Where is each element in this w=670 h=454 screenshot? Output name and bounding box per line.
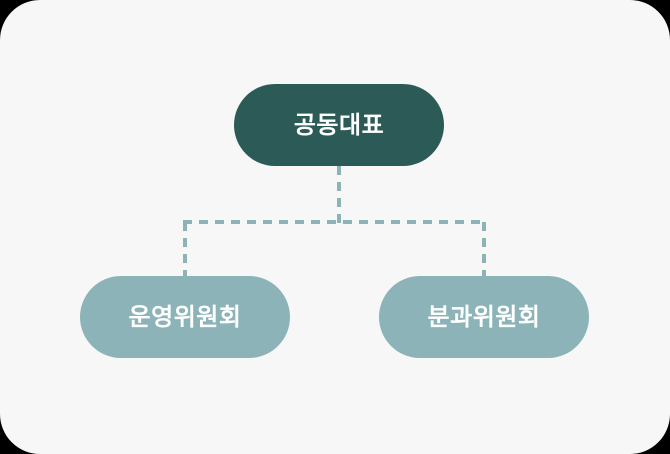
diagram-canvas: 공동대표 운영위원회 분과위원회	[0, 0, 670, 454]
org-node-steering-committee-label: 운영위원회	[129, 305, 242, 329]
org-node-subcommittee-label: 분과위원회	[428, 305, 541, 329]
org-node-root[interactable]: 공동대표	[234, 84, 444, 166]
org-node-root-label: 공동대표	[294, 113, 384, 137]
diagram-card	[0, 0, 670, 454]
org-node-subcommittee[interactable]: 분과위원회	[379, 276, 589, 358]
org-node-steering-committee[interactable]: 운영위원회	[80, 276, 290, 358]
